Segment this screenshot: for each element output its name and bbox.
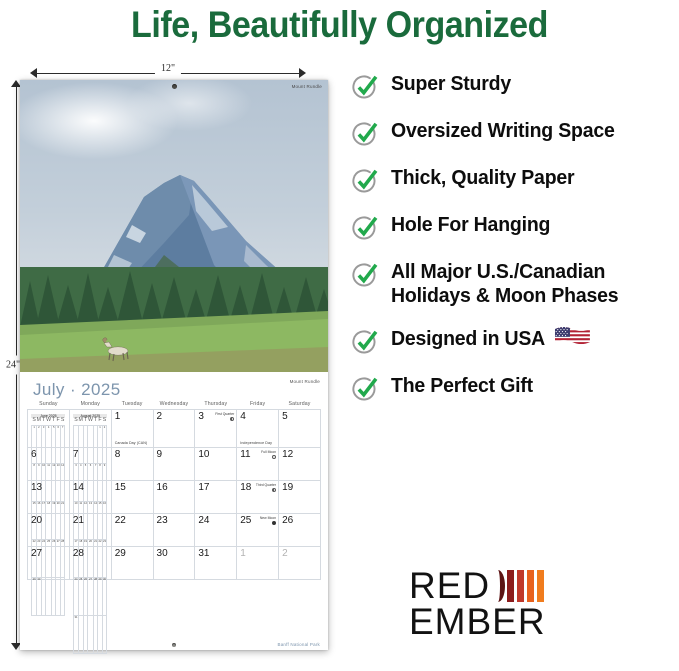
checkmark-icon (352, 215, 378, 241)
calendar-grid-section: Mount Rundle July · 2025 SundayMondayTue… (20, 372, 328, 650)
feature-label: All Major U.S./CanadianHolidays & Moon P… (391, 260, 618, 308)
feature-label: Designed in USA (391, 327, 592, 352)
weekday-header: Tuesday (111, 401, 153, 410)
calendar-day-cell[interactable]: 2 (279, 547, 321, 580)
day-number: 15 (115, 482, 126, 493)
logo-word-ember: EMBER (409, 604, 589, 640)
park-caption: Banff National Park (278, 642, 321, 647)
brand-logo: RED EMBER (409, 568, 589, 641)
holiday-label: Canada Day (CAN) (115, 441, 148, 445)
mount-caption: Mount Rundle (290, 379, 320, 384)
day-number: 24 (198, 515, 209, 526)
calendar-week-row: 131415161718Third Quarter19 (28, 481, 321, 514)
bottom-hole (172, 643, 176, 647)
width-dimension: 12" (30, 65, 306, 81)
feature-item: Hole For Hanging (352, 213, 679, 241)
day-number: 17 (198, 482, 209, 493)
feature-item: The Perfect Gift (352, 374, 679, 402)
checkmark-icon (352, 121, 378, 147)
calendar-day-cell[interactable]: 14 (69, 481, 111, 514)
calendar-day-cell[interactable]: 24 (195, 514, 237, 547)
day-number: 3 (198, 411, 204, 422)
calendar-week-row: 67891011Full Moon12 (28, 448, 321, 481)
day-number: 2 (157, 411, 163, 422)
wall-calendar: Mount Rundle Mount Rundle July · 2025 Su… (20, 80, 328, 650)
day-number: 13 (31, 482, 42, 493)
feature-item: Super Sturdy (352, 72, 679, 100)
day-number: 7 (73, 449, 79, 460)
day-number: 19 (282, 482, 293, 493)
page-title: Life, Beautifully Organized (27, 4, 652, 46)
day-number: 22 (115, 515, 126, 526)
calendar-day-cell[interactable]: 23 (153, 514, 195, 547)
calendar-day-cell[interactable]: 25New Moon (237, 514, 279, 547)
logo-word-red: RED (409, 568, 490, 604)
ember-arc-icon (491, 570, 505, 602)
checkmark-icon (352, 329, 378, 355)
calendar-day-cell[interactable]: 1Canada Day (CAN) (111, 410, 153, 448)
moon-phase-icon (272, 455, 276, 459)
checkmark-icon (352, 376, 378, 402)
day-number: 2 (282, 548, 288, 559)
photo-location-caption: Mount Rundle (292, 84, 322, 89)
moon-phase-icon (272, 488, 276, 492)
calendar-day-cell[interactable]: 21 (69, 514, 111, 547)
moon-phase-label: First Quarter (215, 413, 234, 421)
day-number: 1 (240, 548, 246, 559)
calendar-day-cell[interactable]: August 2025SMTWTFS1234567891011121314151… (69, 410, 111, 448)
day-number: 25 (240, 515, 251, 526)
day-number: 1 (115, 411, 121, 422)
day-number: 30 (157, 548, 168, 559)
day-number: 20 (31, 515, 42, 526)
calendar-day-cell[interactable]: 2 (153, 410, 195, 448)
calendar-day-cell[interactable]: 17 (195, 481, 237, 514)
weekday-header: Monday (69, 401, 111, 410)
calendar-day-cell[interactable]: June 2025SMTWTFS123456789101112131415161… (28, 410, 70, 448)
ember-bar (537, 570, 544, 602)
weekday-header: Sunday (28, 401, 70, 410)
calendar-day-cell[interactable]: 27 (28, 547, 70, 580)
moon-phase-icon (230, 417, 234, 421)
calendar-day-cell[interactable]: 11Full Moon (237, 448, 279, 481)
day-number: 31 (198, 548, 209, 559)
ember-bar (517, 570, 524, 602)
width-dimension-label: 12" (155, 63, 181, 74)
feature-item: Thick, Quality Paper (352, 166, 679, 194)
day-number: 21 (73, 515, 84, 526)
feature-list: Super Sturdy Oversized Writing Space Thi… (352, 72, 679, 421)
hanging-hole (172, 84, 177, 89)
feature-label: Hole For Hanging (391, 213, 550, 237)
feature-item: All Major U.S./CanadianHolidays & Moon P… (352, 260, 679, 308)
day-number: 28 (73, 548, 84, 559)
calendar-day-cell[interactable]: 6 (28, 448, 70, 481)
calendar-week-row: 202122232425New Moon26 (28, 514, 321, 547)
calendar-day-cell[interactable]: 16 (153, 481, 195, 514)
calendar-month-title: July · 2025 (33, 380, 321, 400)
moon-phase-icon (272, 521, 276, 525)
moon-phase-label: New Moon (260, 517, 276, 525)
holiday-label: Independence Day (240, 441, 272, 445)
day-number: 27 (31, 548, 42, 559)
day-number: 12 (282, 449, 293, 460)
day-number: 16 (157, 482, 168, 493)
calendar-day-cell[interactable]: 1 (237, 547, 279, 580)
meadow-and-forest-illustration (20, 267, 328, 372)
day-number: 5 (282, 411, 288, 422)
calendar-day-cell[interactable]: 31 (195, 547, 237, 580)
moon-phase-label: Third Quarter (256, 484, 276, 492)
calendar-day-cell[interactable]: 5 (279, 410, 321, 448)
height-dimension-label: 24" (6, 356, 20, 375)
day-number: 4 (240, 411, 246, 422)
mini-day (102, 615, 107, 653)
day-number: 14 (73, 482, 84, 493)
feature-label: Super Sturdy (391, 72, 511, 96)
calendar-day-cell[interactable]: 22 (111, 514, 153, 547)
ember-bars-icon (491, 570, 547, 602)
day-number: 10 (198, 449, 209, 460)
calendar-day-cell[interactable]: 3First Quarter (195, 410, 237, 448)
calendar-day-cell[interactable]: 30 (153, 547, 195, 580)
feature-item: Oversized Writing Space (352, 119, 679, 147)
calendar-day-cell[interactable]: 13 (28, 481, 70, 514)
calendar-photo: Mount Rundle (20, 80, 328, 372)
day-number: 26 (282, 515, 293, 526)
weekday-header: Saturday (279, 401, 321, 410)
usa-flag-icon (554, 325, 592, 350)
calendar-day-cell[interactable]: 10 (195, 448, 237, 481)
day-number: 29 (115, 548, 126, 559)
feature-item: Designed in USA (352, 327, 679, 355)
calendar-day-cell[interactable]: 20 (28, 514, 70, 547)
weekday-header-row: SundayMondayTuesdayWednesdayThursdayFrid… (28, 401, 321, 410)
mini-day: 30 (102, 577, 107, 615)
calendar-grid: SundayMondayTuesdayWednesdayThursdayFrid… (27, 401, 321, 580)
calendar-day-cell[interactable]: 19 (279, 481, 321, 514)
ember-bar (507, 570, 514, 602)
calendar-day-cell[interactable]: 8 (111, 448, 153, 481)
calendar-day-cell[interactable]: 9 (153, 448, 195, 481)
mini-day (60, 577, 65, 615)
calendar-day-cell[interactable]: 28 (69, 547, 111, 580)
day-number: 9 (157, 449, 163, 460)
weekday-header: Wednesday (153, 401, 195, 410)
day-number: 18 (240, 482, 251, 493)
feature-label: Thick, Quality Paper (391, 166, 574, 190)
feature-label: Oversized Writing Space (391, 119, 615, 143)
calendar-week-row: June 2025SMTWTFS123456789101112131415161… (28, 410, 321, 448)
calendar-week-row: 272829303112 (28, 547, 321, 580)
checkmark-icon (352, 168, 378, 194)
calendar-day-cell[interactable]: 26 (279, 514, 321, 547)
arrow-right-icon (299, 68, 306, 78)
checkmark-icon (352, 74, 378, 100)
weekday-header: Thursday (195, 401, 237, 410)
day-number: 23 (157, 515, 168, 526)
calendar-day-cell[interactable]: 12 (279, 448, 321, 481)
weekday-header: Friday (237, 401, 279, 410)
day-number: 6 (31, 449, 37, 460)
calendar-day-cell[interactable]: 15 (111, 481, 153, 514)
day-number: 8 (115, 449, 121, 460)
ember-bar (527, 570, 534, 602)
feature-label: The Perfect Gift (391, 374, 533, 398)
calendar-day-cell[interactable]: 29 (111, 547, 153, 580)
moon-phase-label: Full Moon (261, 451, 276, 459)
product-image-area: 12" 24" (0, 58, 345, 658)
calendar-day-cell[interactable]: 18Third Quarter (237, 481, 279, 514)
checkmark-icon (352, 262, 378, 288)
day-number: 11 (240, 449, 250, 460)
calendar-day-cell[interactable]: 4Independence Day (237, 410, 279, 448)
calendar-day-cell[interactable]: 7 (69, 448, 111, 481)
